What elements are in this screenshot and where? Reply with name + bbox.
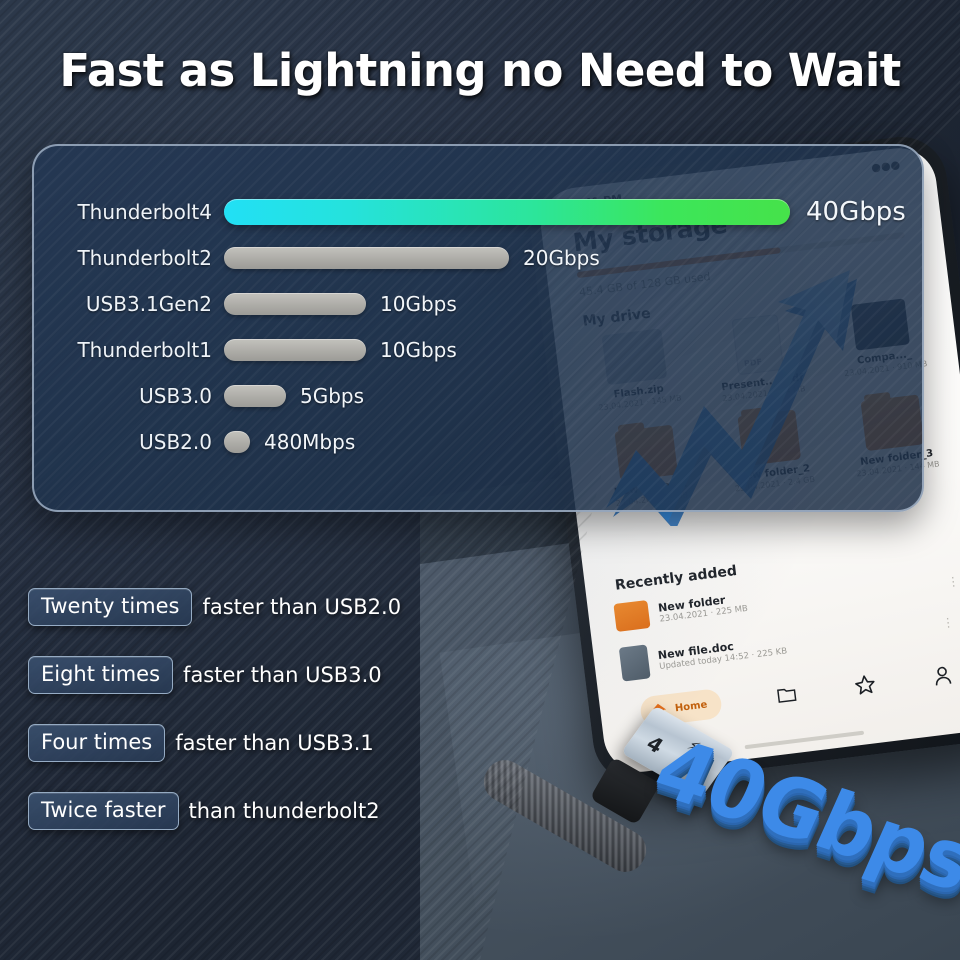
feature-chip: Twenty times	[28, 588, 192, 626]
more-options-icon[interactable]: ⋮	[946, 574, 960, 590]
chart-row: USB2.0480Mbps	[34, 426, 922, 458]
more-options-icon[interactable]: ⋮	[941, 615, 957, 631]
home-indicator	[745, 731, 865, 750]
chart-row-label: Thunderbolt4	[34, 200, 224, 224]
feature-item: Eight timesfaster than USB3.0	[28, 656, 498, 694]
chart-row-value: 10Gbps	[366, 292, 457, 316]
product-infographic: 9:41 PM ●●● My storage 45.4 GB of 128 GB…	[0, 0, 960, 960]
chart-bar	[224, 293, 366, 315]
feature-chip: Twice faster	[28, 792, 179, 830]
chart-bar	[224, 199, 790, 225]
folder-icon	[613, 600, 650, 632]
feature-text: than thunderbolt2	[189, 799, 380, 823]
doc-icon	[619, 644, 651, 681]
folder-icon[interactable]	[772, 682, 800, 707]
star-icon[interactable]	[850, 672, 879, 699]
chart-bar	[224, 385, 286, 407]
chart-row: USB3.05Gbps	[34, 380, 922, 412]
chart-bar	[224, 247, 509, 269]
chart-row-label: Thunderbolt2	[34, 246, 224, 270]
feature-list: Twenty timesfaster than USB2.0Eight time…	[28, 588, 498, 860]
page-title: Fast as Lightning no Need to Wait	[0, 44, 960, 97]
chart-row: Thunderbolt110Gbps	[34, 334, 922, 366]
feature-chip: Four times	[28, 724, 165, 762]
chart-row-value: 480Mbps	[250, 430, 355, 454]
nav-home-label: Home	[674, 699, 708, 714]
chart-row-value: 20Gbps	[509, 246, 600, 270]
feature-item: Twice fasterthan thunderbolt2	[28, 792, 498, 830]
feature-item: Four timesfaster than USB3.1	[28, 724, 498, 762]
speed-comparison-panel: Thunderbolt440GbpsThunderbolt220GbpsUSB3…	[32, 144, 924, 512]
chart-row-label: USB2.0	[34, 430, 224, 454]
feature-text: faster than USB3.1	[175, 731, 374, 755]
feature-text: faster than USB3.0	[183, 663, 382, 687]
chart-row: USB3.1Gen210Gbps	[34, 288, 922, 320]
chart-row-value: 5Gbps	[286, 384, 364, 408]
feature-text: faster than USB2.0	[202, 595, 401, 619]
chart-row: Thunderbolt220Gbps	[34, 242, 922, 274]
feature-chip: Eight times	[28, 656, 173, 694]
chart-bar	[224, 431, 250, 453]
chart-row-label: Thunderbolt1	[34, 338, 224, 362]
chart-row-label: USB3.1Gen2	[34, 292, 224, 316]
feature-item: Twenty timesfaster than USB2.0	[28, 588, 498, 626]
speed-bar-chart: Thunderbolt440GbpsThunderbolt220GbpsUSB3…	[34, 146, 922, 510]
section-recently-added: Recently added	[614, 563, 738, 594]
chart-row-label: USB3.0	[34, 384, 224, 408]
chart-row: Thunderbolt440Gbps	[34, 196, 922, 228]
chart-bar	[224, 339, 366, 361]
chart-row-value: 40Gbps	[790, 197, 906, 227]
person-icon[interactable]	[929, 662, 958, 689]
chart-row-value: 10Gbps	[366, 338, 457, 362]
